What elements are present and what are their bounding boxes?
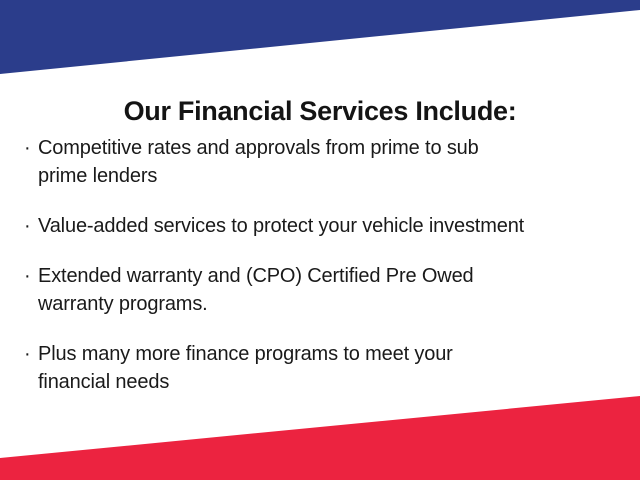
- list-item: · Value-added services to protect your v…: [24, 212, 616, 240]
- list-item-text: Competitive rates and approvals from pri…: [38, 134, 616, 190]
- services-bullet-list: · Competitive rates and approvals from p…: [24, 134, 616, 418]
- list-item-text: Extended warranty and (CPO) Certified Pr…: [38, 262, 616, 318]
- slide-canvas: Our Financial Services Include: · Compet…: [0, 0, 640, 480]
- list-item: · Competitive rates and approvals from p…: [24, 134, 616, 190]
- bullet-dot-icon: ·: [24, 134, 38, 162]
- bullet-dot-icon: ·: [24, 212, 38, 240]
- list-item: · Extended warranty and (CPO) Certified …: [24, 262, 616, 318]
- bullet-dot-icon: ·: [24, 262, 38, 290]
- top-blue-band-shape: [0, 0, 640, 90]
- list-item-text: Value-added services to protect your veh…: [38, 212, 616, 240]
- bullet-dot-icon: ·: [24, 340, 38, 368]
- page-title: Our Financial Services Include:: [0, 94, 640, 128]
- list-item: · Plus many more finance programs to mee…: [24, 340, 616, 396]
- top-blue-band: [0, 0, 640, 90]
- list-item-text: Plus many more finance programs to meet …: [38, 340, 616, 396]
